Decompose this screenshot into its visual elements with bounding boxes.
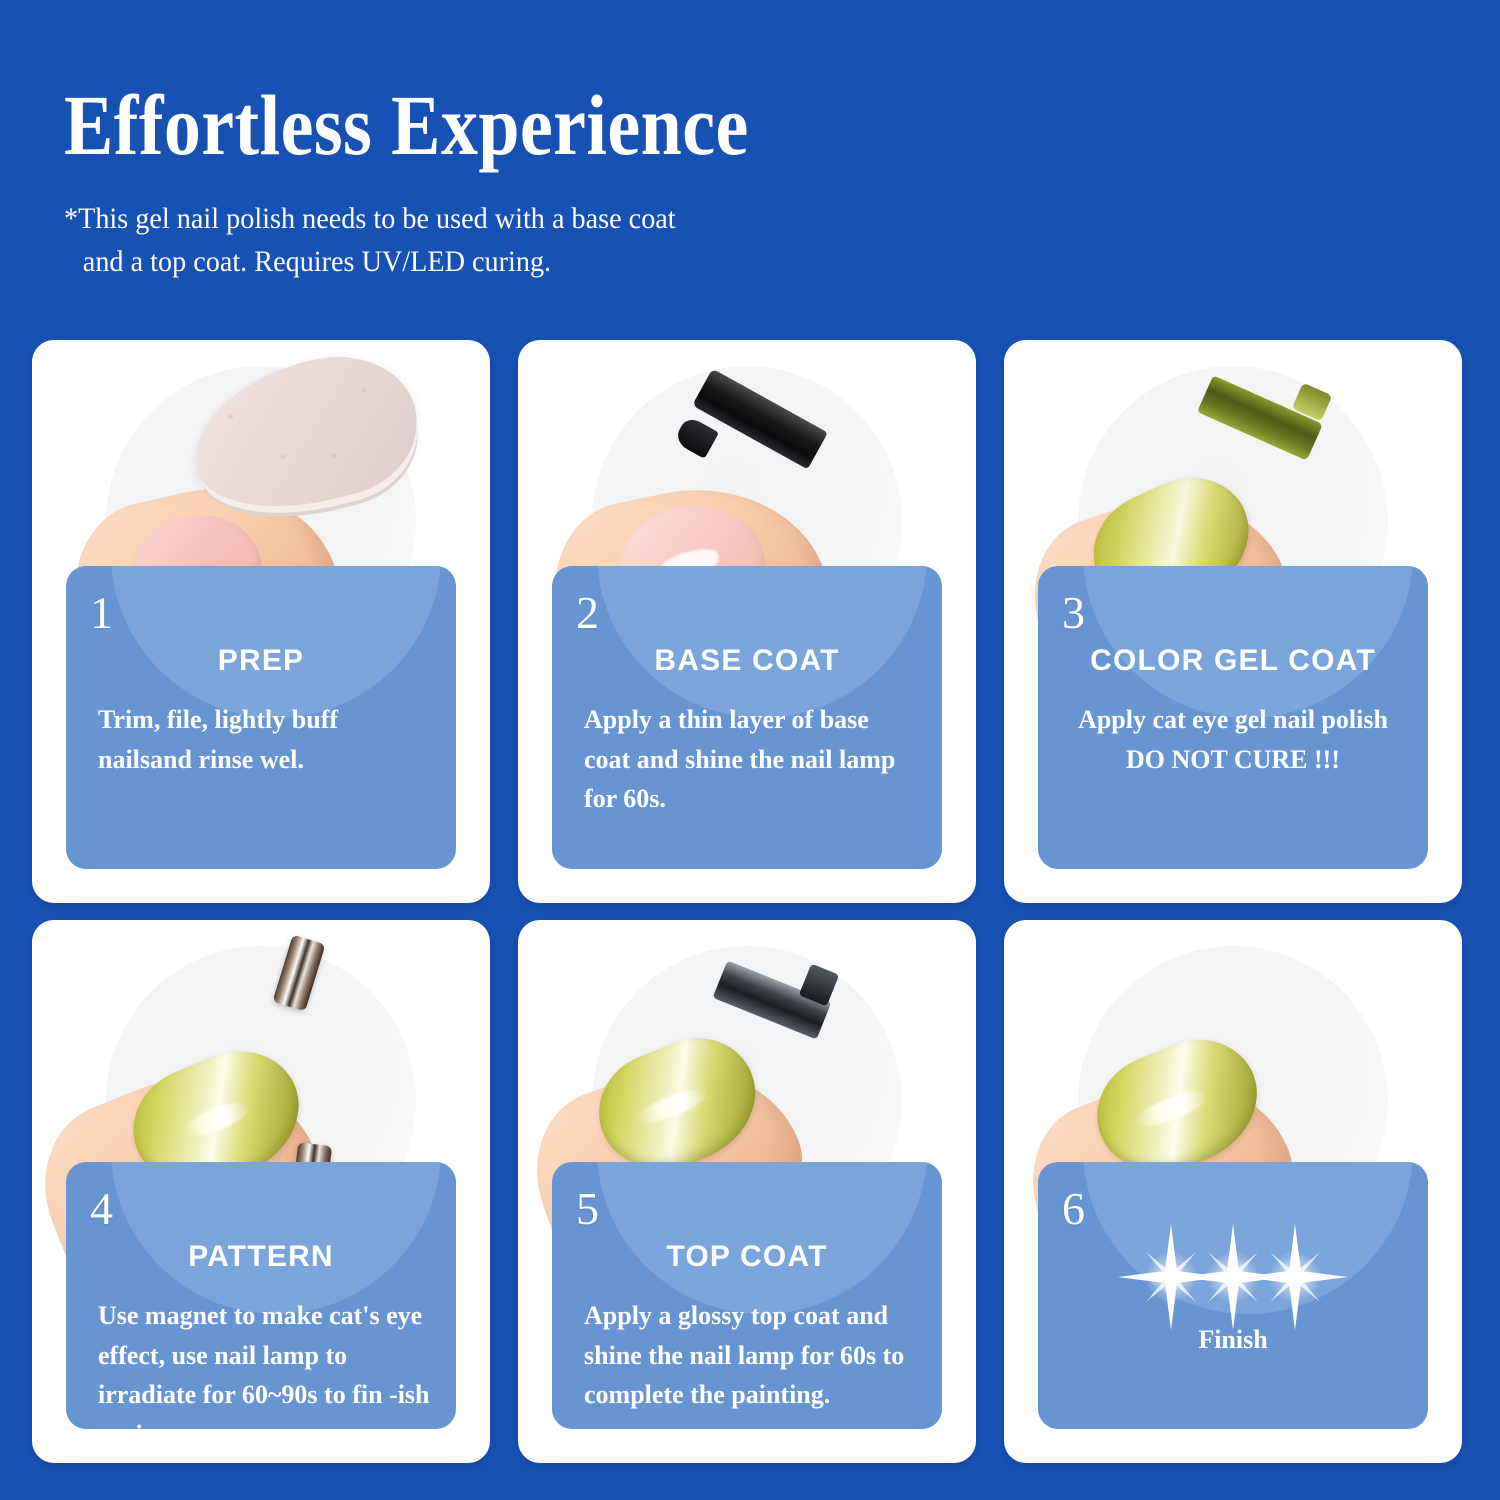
step-description: Trim, file, lightly buff nailsand rinse … (92, 700, 430, 779)
step-description: Apply cat eye gel nail polish DO NOT CUR… (1064, 700, 1402, 779)
step-heading: PATTERN (92, 1240, 430, 1274)
step-2-panel: 2 BASE COAT Apply a thin layer of base c… (552, 566, 942, 869)
sparkle-icon (1240, 1222, 1350, 1332)
step-heading: COLOR GEL COAT (1064, 644, 1402, 678)
step-4-panel: 4 PATTERN Use magnet to make cat's eye e… (66, 1162, 456, 1429)
step-6-body: Finish (1038, 1240, 1428, 1360)
step-card-1: 1 PREP Trim, file, lightly buff nailsand… (32, 340, 490, 903)
magnet-stick-icon (273, 935, 326, 1012)
step-description: Apply a thin layer of base coat and shin… (578, 700, 916, 819)
subtitle: *This gel nail polish needs to be used w… (64, 198, 1361, 283)
step-1-body: PREP Trim, file, lightly buff nailsand r… (66, 644, 456, 779)
step-4-body: PATTERN Use magnet to make cat's eye eff… (66, 1240, 456, 1429)
page-title: Effortless Experience (64, 82, 1251, 168)
step-3-body: COLOR GEL COAT Apply cat eye gel nail po… (1038, 644, 1428, 779)
step-6-panel: 6 (1038, 1162, 1428, 1429)
step-5-panel: 5 TOP COAT Apply a glossy top coat and s… (552, 1162, 942, 1429)
step-heading: PREP (92, 644, 430, 678)
step-heading: BASE COAT (578, 644, 916, 678)
step-2-body: BASE COAT Apply a thin layer of base coa… (552, 644, 942, 819)
step-description: Use magnet to make cat's eye effect, use… (92, 1296, 430, 1429)
step-card-6: 6 (1004, 920, 1462, 1463)
step-card-3: 3 COLOR GEL COAT Apply cat eye gel nail … (1004, 340, 1462, 903)
step-heading: TOP COAT (578, 1240, 916, 1274)
step-3-panel: 3 COLOR GEL COAT Apply cat eye gel nail … (1038, 566, 1428, 869)
subtitle-line-1: *This gel nail polish needs to be used w… (64, 202, 676, 235)
step-5-body: TOP COAT Apply a glossy top coat and shi… (552, 1240, 942, 1415)
subtitle-line-2: and a top coat. Requires UV/LED curing. (64, 241, 1361, 284)
step-number: 3 (1062, 590, 1085, 636)
step-number: 5 (576, 1186, 599, 1232)
black-polish-brush-icon (692, 369, 828, 470)
step-number: 1 (90, 590, 113, 636)
brush-tip-icon (673, 415, 719, 459)
steps-grid: 1 PREP Trim, file, lightly buff nailsand… (32, 340, 1468, 1460)
header: Effortless Experience *This gel nail pol… (64, 82, 1444, 283)
sparkle-group (1064, 1240, 1402, 1314)
step-card-4: 4 PATTERN Use magnet to make cat's eye e… (32, 920, 490, 1463)
step-number: 6 (1062, 1186, 1085, 1232)
step-description: Apply a glossy top coat and shine the na… (578, 1296, 916, 1415)
step-number: 2 (576, 590, 599, 636)
step-card-2: 2 BASE COAT Apply a thin layer of base c… (518, 340, 976, 903)
step-1-panel: 1 PREP Trim, file, lightly buff nailsand… (66, 566, 456, 869)
step-card-5: 5 TOP COAT Apply a glossy top coat and s… (518, 920, 976, 1463)
step-number: 4 (90, 1186, 113, 1232)
